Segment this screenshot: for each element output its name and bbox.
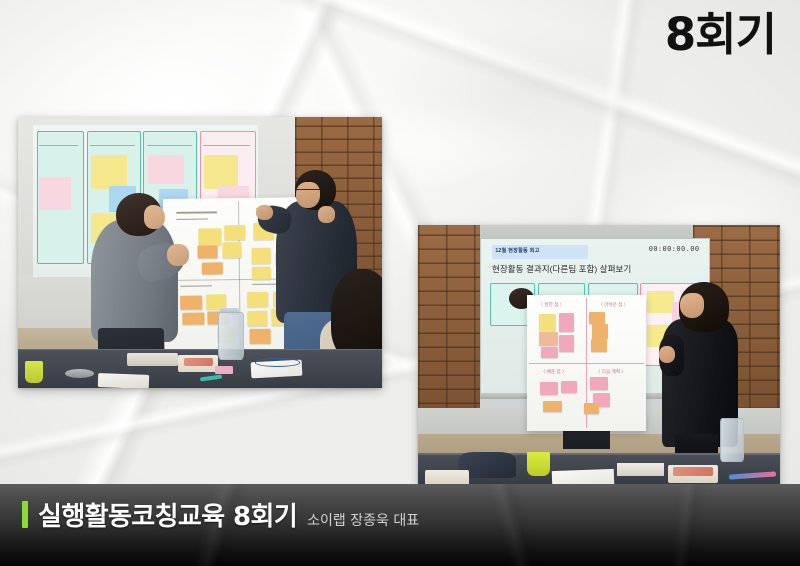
flipchart-note [247,311,266,326]
left-person-holder-glasses [296,189,321,197]
flipchart-note [540,382,558,394]
proj-note-10 [39,177,71,210]
flipchart-quadrant-label: 〈 배운 점 〉 [541,369,567,375]
flipchart-note [590,377,608,391]
flipchart-note [249,329,270,344]
flipchart-note [543,401,562,412]
caption-subtitle: 소이랩 장종욱 대표 [307,514,419,530]
flipchart-note [591,339,607,353]
left-person-holder-hand-right [318,206,335,222]
left-cable [255,358,301,367]
proj-note-1 [91,155,127,188]
flipchart-note [198,229,221,246]
flipchart-note [180,296,203,310]
left-person-attendee-hair [331,269,382,361]
photo-right: 12월 현장활동 회고 00:00:00.00 현장활동 결과지(다른팀 포함)… [418,225,780,486]
left-food [184,358,213,367]
right-food [673,467,713,476]
projection-title: 12월 현장활동 회고 [495,247,539,254]
right-notebook [617,463,664,476]
projection-timer: 00:00:00.00 [649,245,700,253]
accent-bar [22,501,28,528]
proj-note-4 [148,155,184,184]
projection-subtitle: 현장활동 결과지(다른팀 포함) 살펴보기 [492,263,631,275]
proj-note-7 [204,155,238,188]
right-water-bottle [720,418,744,462]
right-brick-left [418,225,480,418]
flipchart-note [584,403,600,414]
right-person-presenter-face [680,293,704,318]
left-loose-paper-2 [98,374,149,388]
photo-left-content [18,117,382,388]
right-flipchart: 〈 잘한 점 〉 〈 아쉬운 점 〉 〈 배운 점 〉 〈 다음 계획 〉 [527,295,646,431]
left-notebook [127,353,178,367]
right-green-cup [527,452,551,475]
left-person-presenter-body [91,220,178,342]
flipchart-note [559,335,575,353]
flipchart-note [224,225,245,240]
flipchart-note [589,312,606,324]
left-pink-item [215,366,233,374]
flipchart-note [197,246,218,260]
flipchart-quadrant-label: 〈 아쉬운 점 〉 [598,302,628,308]
caption-content: 실행활동코칭교육 8회기 소이랩 장종욱 대표 [22,503,419,530]
flipchart-note [182,313,205,325]
flipchart-quadrant-label: 〈 잘한 점 〉 [539,302,565,308]
photo-left [18,117,382,388]
flipchart-quadrant-label: 〈 다음 계획 〉 [596,369,626,375]
flipchart-note [559,313,575,332]
episode-heading: 8회기 [665,12,776,57]
left-person-presenter-hand [167,244,189,266]
flipchart-note [202,262,223,274]
flipchart-note [539,314,557,330]
left-person-presenter-face [144,205,166,229]
left-green-cup [25,361,43,383]
left-water-bottle [218,312,244,360]
flipchart-note [251,267,270,281]
flipchart-note [561,381,577,393]
photo-right-content: 12월 현장활동 회고 00:00:00.00 현장활동 결과지(다른팀 포함)… [418,225,780,486]
slide-canvas: 8회기 [0,0,800,566]
flipchart-note [247,292,268,307]
caption-bar: 실행활동코칭교육 8회기 소이랩 장종욱 대표 [0,484,800,566]
flipchart-note [222,242,241,259]
caption-title: 실행활동코칭교육 8회기 [38,504,297,530]
flipchart-note [592,324,608,339]
flipchart-note [539,332,558,346]
flipchart-note [541,347,558,358]
flipchart-note [251,248,270,263]
left-person-holder-hand-left [256,205,273,220]
